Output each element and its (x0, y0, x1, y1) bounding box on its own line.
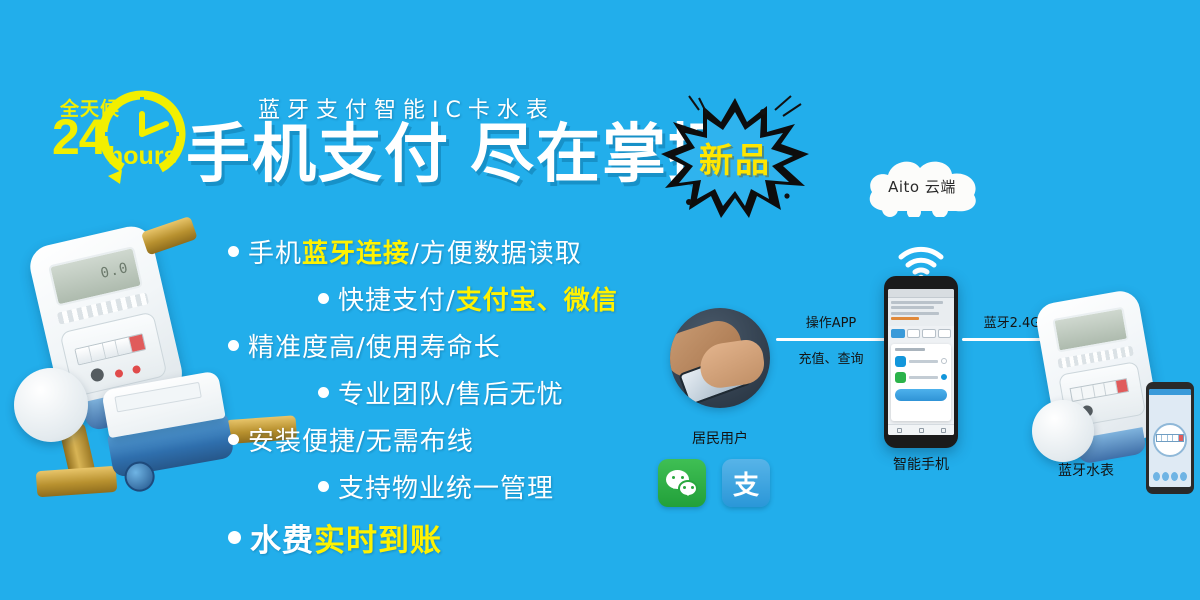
feature-suffix: /方便数据读取 (410, 233, 582, 270)
feature-highlight: 支付宝、微信 (456, 280, 618, 317)
feature-highlight: 实时到账 (314, 515, 442, 560)
brass-pipe-top (141, 216, 198, 256)
brass-pipe-left (36, 466, 118, 498)
connector-operate-app: 操作APP 充值、查询 (776, 312, 886, 367)
phone-nav-bar (888, 424, 954, 435)
bullet-icon (228, 434, 239, 445)
alipay-icon[interactable]: 支 (722, 459, 770, 507)
feature-item: 支持物业统一管理 (228, 468, 698, 505)
new-product-label: 新品 (655, 92, 815, 222)
alipay-option-icon (895, 356, 906, 367)
title-part-1: 手机支付 (186, 118, 450, 192)
new-product-badge: 新品 (655, 92, 815, 222)
bullet-icon (228, 531, 241, 544)
meter-odometer (74, 333, 146, 365)
cloud-server-node: Aito 云端 (862, 155, 982, 217)
feature-prefix: 快捷支付/ (338, 280, 456, 317)
connector-line (776, 338, 886, 341)
phone-tab-row (888, 326, 954, 341)
feature-list: 手机蓝牙连接/方便数据读取 快捷支付/支付宝、微信 精准度高/使用寿命长 专业团… (228, 233, 698, 570)
cloud-label: Aito 云端 (862, 155, 982, 217)
feature-prefix: 安装便捷/无需布线 (248, 421, 474, 458)
meter-cover-cap (14, 368, 88, 442)
meter-needle (89, 367, 105, 383)
badge-number: 24 (52, 112, 106, 162)
phone-confirm-button (895, 389, 947, 401)
payment-icon-group: 支 (658, 459, 770, 507)
phone-screen (888, 289, 954, 435)
page-title: 手机支付尽在掌握 (186, 122, 734, 190)
feature-prefix: 专业团队/售后无忧 (338, 374, 564, 411)
bullet-icon (318, 387, 329, 398)
phone-app-titlebar (888, 289, 954, 298)
mini-meter-reading (1156, 434, 1184, 442)
feature-item: 水费实时到账 (228, 515, 698, 560)
smartphone-device (884, 276, 958, 448)
bullet-icon (318, 293, 329, 304)
feature-prefix: 手机 (248, 233, 302, 270)
badge-unit: hours (108, 144, 177, 169)
feature-item: 专业团队/售后无忧 (228, 374, 698, 411)
resident-user-photo (670, 308, 770, 408)
payment-option-alipay (895, 356, 947, 367)
feature-prefix: 水费 (250, 515, 314, 560)
bullet-icon (228, 340, 239, 351)
caption-bluetooth-meter: 蓝牙水表 (1036, 460, 1136, 480)
bullet-icon (228, 246, 239, 257)
feature-item: 快捷支付/支付宝、微信 (228, 280, 698, 317)
wechat-pay-icon[interactable] (658, 459, 706, 507)
feature-item: 安装便捷/无需布线 (228, 421, 698, 458)
feature-prefix: 支持物业统一管理 (338, 468, 554, 505)
phone-account-info (888, 298, 954, 326)
caption-resident-user: 居民用户 (670, 428, 770, 448)
water-meter-product-group: 0.0 (10, 228, 260, 508)
alipay-glyph: 支 (722, 459, 770, 507)
meter-reading-phone (1146, 382, 1194, 494)
bt-meter-cover-cap (1032, 400, 1094, 462)
meter-lcd-value: 0.0 (99, 260, 130, 282)
wechat-option-icon (895, 372, 906, 383)
payment-option-wechat (895, 372, 947, 383)
banner-stage: 全天候 24 hours 蓝牙支付智能IC卡水表 手机支付尽在掌握 新品 (0, 0, 1200, 600)
connector-top-label: 操作APP (776, 312, 886, 331)
connector-bottom-label: 充值、查询 (776, 348, 886, 367)
feature-item: 手机蓝牙连接/方便数据读取 (228, 233, 698, 270)
bullet-icon (318, 481, 329, 492)
mini-phone-screen (1149, 389, 1191, 487)
feature-prefix: 精准度高/使用寿命长 (248, 327, 501, 364)
phone-payment-dialog (891, 344, 951, 421)
caption-smartphone: 智能手机 (884, 454, 958, 474)
feature-item: 精准度高/使用寿命长 (228, 327, 698, 364)
feature-highlight: 蓝牙连接 (302, 233, 410, 270)
all-weather-24h-badge: 全天候 24 hours (52, 82, 192, 187)
